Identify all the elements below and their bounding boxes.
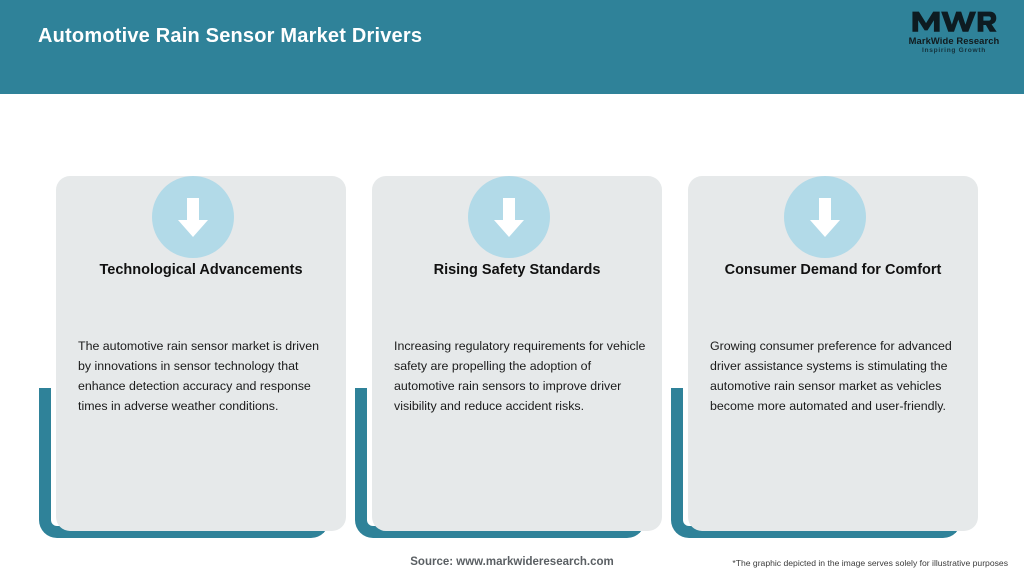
mwr-logo-icon <box>911 8 997 34</box>
page-title: Automotive Rain Sensor Market Drivers <box>38 25 422 48</box>
card-body-text: Growing consumer preference for advanced… <box>710 336 962 416</box>
card-panel: Technological Advancements The automotiv… <box>56 176 346 531</box>
page-header: Automotive Rain Sensor Market Drivers Ma… <box>0 0 1024 94</box>
card-panel: Consumer Demand for Comfort Growing cons… <box>688 176 978 531</box>
card-title: Consumer Demand for Comfort <box>710 259 956 281</box>
logo-company-name: MarkWide Research <box>909 35 1000 46</box>
brand-logo: MarkWide Research Inspiring Growth <box>898 8 1010 64</box>
card-title: Rising Safety Standards <box>394 259 640 281</box>
arrow-down-icon <box>468 176 550 258</box>
arrow-down-glyph <box>489 194 529 240</box>
logo-tagline: Inspiring Growth <box>922 47 986 54</box>
disclaimer-note: *The graphic depicted in the image serve… <box>732 558 1008 568</box>
card-panel: Rising Safety Standards Increasing regul… <box>372 176 662 531</box>
arrow-down-glyph <box>173 194 213 240</box>
driver-card-1: Technological Advancements The automotiv… <box>39 94 355 534</box>
card-body-text: Increasing regulatory requirements for v… <box>394 336 646 416</box>
card-title: Technological Advancements <box>78 259 324 281</box>
driver-card-3: Consumer Demand for Comfort Growing cons… <box>671 94 987 534</box>
arrow-down-glyph <box>805 194 845 240</box>
driver-cards-row: Technological Advancements The automotiv… <box>0 94 1024 534</box>
card-body-text: The automotive rain sensor market is dri… <box>78 336 330 416</box>
driver-card-2: Rising Safety Standards Increasing regul… <box>355 94 671 534</box>
arrow-down-icon <box>152 176 234 258</box>
arrow-down-icon <box>784 176 866 258</box>
